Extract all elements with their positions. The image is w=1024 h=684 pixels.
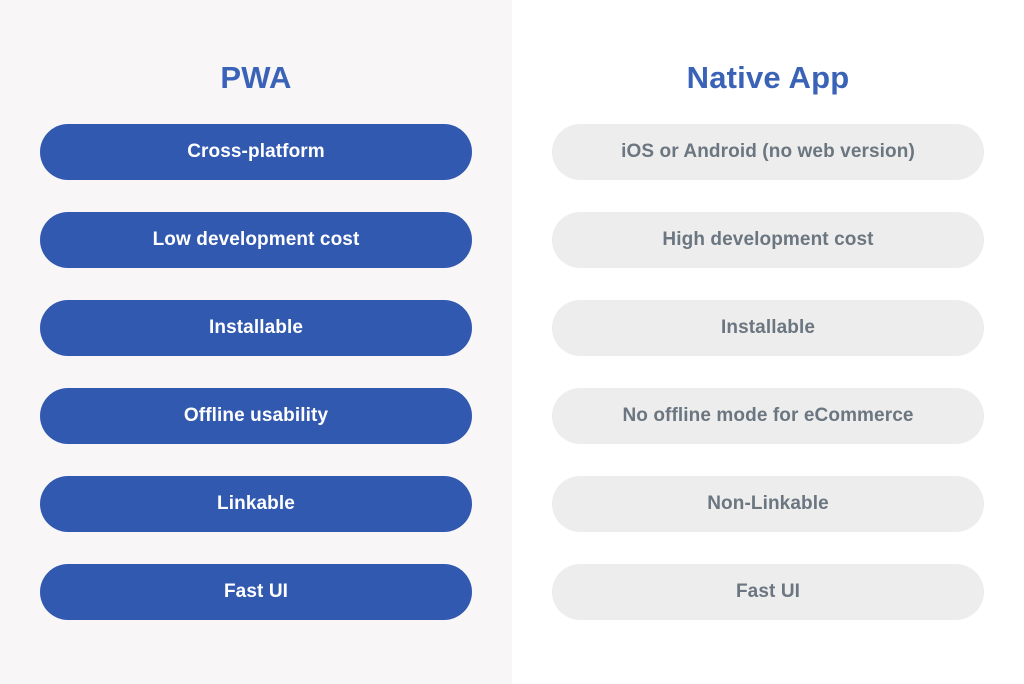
pill-label: iOS or Android (no web version) xyxy=(621,141,915,163)
pill-label: Fast UI xyxy=(736,581,800,603)
column-title-pwa: PWA xyxy=(220,58,291,98)
comparison-diagram: PWA Cross-platform Low development cost … xyxy=(0,0,1024,684)
column-native-app: Native App iOS or Android (no web versio… xyxy=(512,0,1024,684)
pill-pwa-5[interactable]: Linkable xyxy=(40,476,472,532)
pill-list-native-app: iOS or Android (no web version) High dev… xyxy=(512,124,1024,620)
column-title-native-app: Native App xyxy=(687,58,850,98)
pill-label: Offline usability xyxy=(184,405,328,427)
pill-native-3[interactable]: Installable xyxy=(552,300,984,356)
pill-label: Installable xyxy=(209,317,303,339)
pill-pwa-2[interactable]: Low development cost xyxy=(40,212,472,268)
pill-label: Non-Linkable xyxy=(707,493,829,515)
pill-native-6[interactable]: Fast UI xyxy=(552,564,984,620)
pill-pwa-3[interactable]: Installable xyxy=(40,300,472,356)
pill-pwa-4[interactable]: Offline usability xyxy=(40,388,472,444)
columns-container: PWA Cross-platform Low development cost … xyxy=(0,0,1024,684)
column-pwa: PWA Cross-platform Low development cost … xyxy=(0,0,512,684)
pill-native-5[interactable]: Non-Linkable xyxy=(552,476,984,532)
pill-label: Low development cost xyxy=(153,229,360,251)
pill-label: Fast UI xyxy=(224,581,288,603)
pill-native-4[interactable]: No offline mode for eCommerce xyxy=(552,388,984,444)
pill-label: No offline mode for eCommerce xyxy=(622,405,913,427)
pill-native-1[interactable]: iOS or Android (no web version) xyxy=(552,124,984,180)
pill-label: Installable xyxy=(721,317,815,339)
pill-label: High development cost xyxy=(662,229,873,251)
pill-label: Linkable xyxy=(217,493,295,515)
pill-pwa-6[interactable]: Fast UI xyxy=(40,564,472,620)
pill-native-2[interactable]: High development cost xyxy=(552,212,984,268)
pill-pwa-1[interactable]: Cross-platform xyxy=(40,124,472,180)
pill-list-pwa: Cross-platform Low development cost Inst… xyxy=(0,124,512,620)
pill-label: Cross-platform xyxy=(187,141,325,163)
